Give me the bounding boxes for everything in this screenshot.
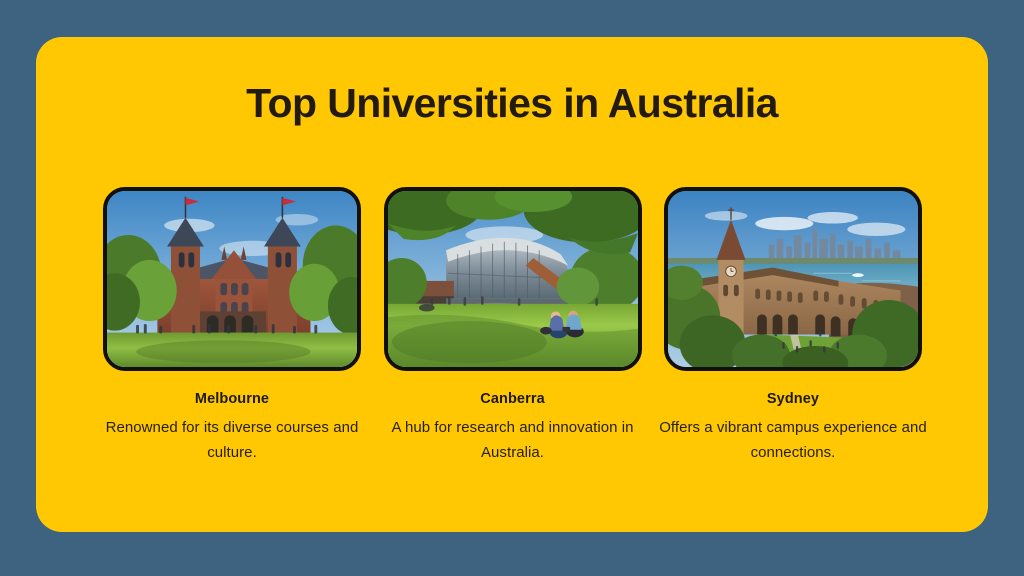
university-column-sydney: Sydney Offers a vibrant campus experienc… xyxy=(664,187,922,465)
university-name: Melbourne xyxy=(195,390,269,408)
melbourne-photo-artwork xyxy=(107,191,357,367)
slide-content-card: Top Universities in Australia xyxy=(36,37,988,532)
university-description: Offers a vibrant campus experience and c… xyxy=(657,415,929,465)
university-description: A hub for research and innovation in Aus… xyxy=(377,415,649,465)
university-name: Sydney xyxy=(767,390,819,408)
page-title: Top Universities in Australia xyxy=(36,79,988,127)
university-name: Canberra xyxy=(480,390,544,408)
university-column-canberra: Canberra A hub for research and innovati… xyxy=(384,187,642,465)
canberra-photo-artwork xyxy=(388,191,638,367)
sydney-university-quadrangle-harbour-skyline-photo[interactable] xyxy=(664,187,922,371)
canberra-university-modern-building-lawn-photo[interactable] xyxy=(384,187,642,371)
university-columns: Melbourne Renowned for its diverse cours… xyxy=(103,187,922,465)
presentation-slide: Top Universities in Australia xyxy=(0,0,1024,576)
university-column-melbourne: Melbourne Renowned for its diverse cours… xyxy=(103,187,361,465)
university-description: Renowned for its diverse courses and cul… xyxy=(96,415,368,465)
sydney-photo-artwork xyxy=(668,191,918,367)
melbourne-university-historic-building-photo[interactable] xyxy=(103,187,361,371)
